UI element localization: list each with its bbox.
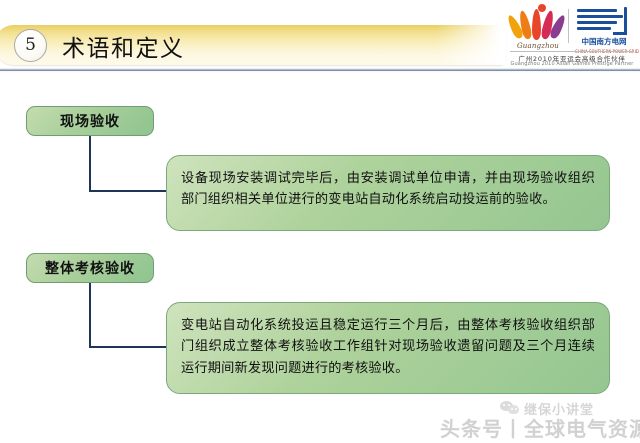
- csg-bar: [577, 9, 617, 12]
- csg-bar: [577, 15, 623, 18]
- logo-row: Guangzhou 中国南方电网 CHINA SOUTHERN POWER GR…: [508, 2, 636, 50]
- connector-vertical: [89, 282, 91, 348]
- term-label-box-2: 整体考核验收: [26, 253, 154, 283]
- connector-term-1: [89, 135, 169, 192]
- logo-rule: [510, 51, 634, 52]
- wechat-eye: [503, 404, 505, 406]
- guangzhou-asian-games-flame-icon: Guangzhou: [508, 3, 566, 49]
- wechat-eye: [508, 404, 510, 406]
- csg-hook: [624, 7, 627, 35]
- term-description-box-1: 设备现场安装调试完毕后，由安装调试单位申请，并由现场验收组织部门组织相关单位进行…: [166, 155, 610, 231]
- flame-dot: [538, 4, 546, 12]
- watermark-primary: 头条号丨全球电气资源: [440, 413, 640, 442]
- guangzhou-wordmark: Guangzhou: [510, 42, 566, 50]
- logo-divider: [568, 9, 569, 43]
- csg-bar: [577, 27, 611, 30]
- term-label-box-1: 现场验收: [26, 106, 154, 136]
- slide-number-badge: 5: [14, 29, 47, 62]
- flame-ribbon: [532, 9, 541, 40]
- csg-mark: [577, 7, 631, 33]
- china-southern-power-grid-logo-icon: 中国南方电网 CHINA SOUTHERN POWER GRID: [575, 3, 633, 49]
- wechat-eye: [515, 408, 517, 410]
- connector-term-2: [89, 282, 169, 348]
- sponsor-logo-lockup: Guangzhou 中国南方电网 CHINA SOUTHERN POWER GR…: [508, 2, 636, 70]
- connector-vertical: [89, 135, 91, 192]
- slide-canvas: 5 术语和定义 Guangzhou: [0, 0, 640, 443]
- csg-hook-foot: [613, 32, 627, 35]
- page-title: 术语和定义: [62, 29, 185, 62]
- term-description-box-2: 变电站自动化系统投运且稳定运行三个月后，由整体考核验收组织部门组织成立整体考核验…: [166, 302, 610, 394]
- wechat-eye: [511, 408, 513, 410]
- csg-name-cn: 中国南方电网: [575, 36, 633, 47]
- connector-horizontal: [89, 190, 169, 192]
- header-underline-highlight: [0, 71, 640, 73]
- csg-bar: [577, 21, 617, 24]
- sponsor-tagline-en: Guangzhou 2010 Asian Games Prestige Part…: [508, 61, 636, 67]
- connector-horizontal: [89, 346, 169, 348]
